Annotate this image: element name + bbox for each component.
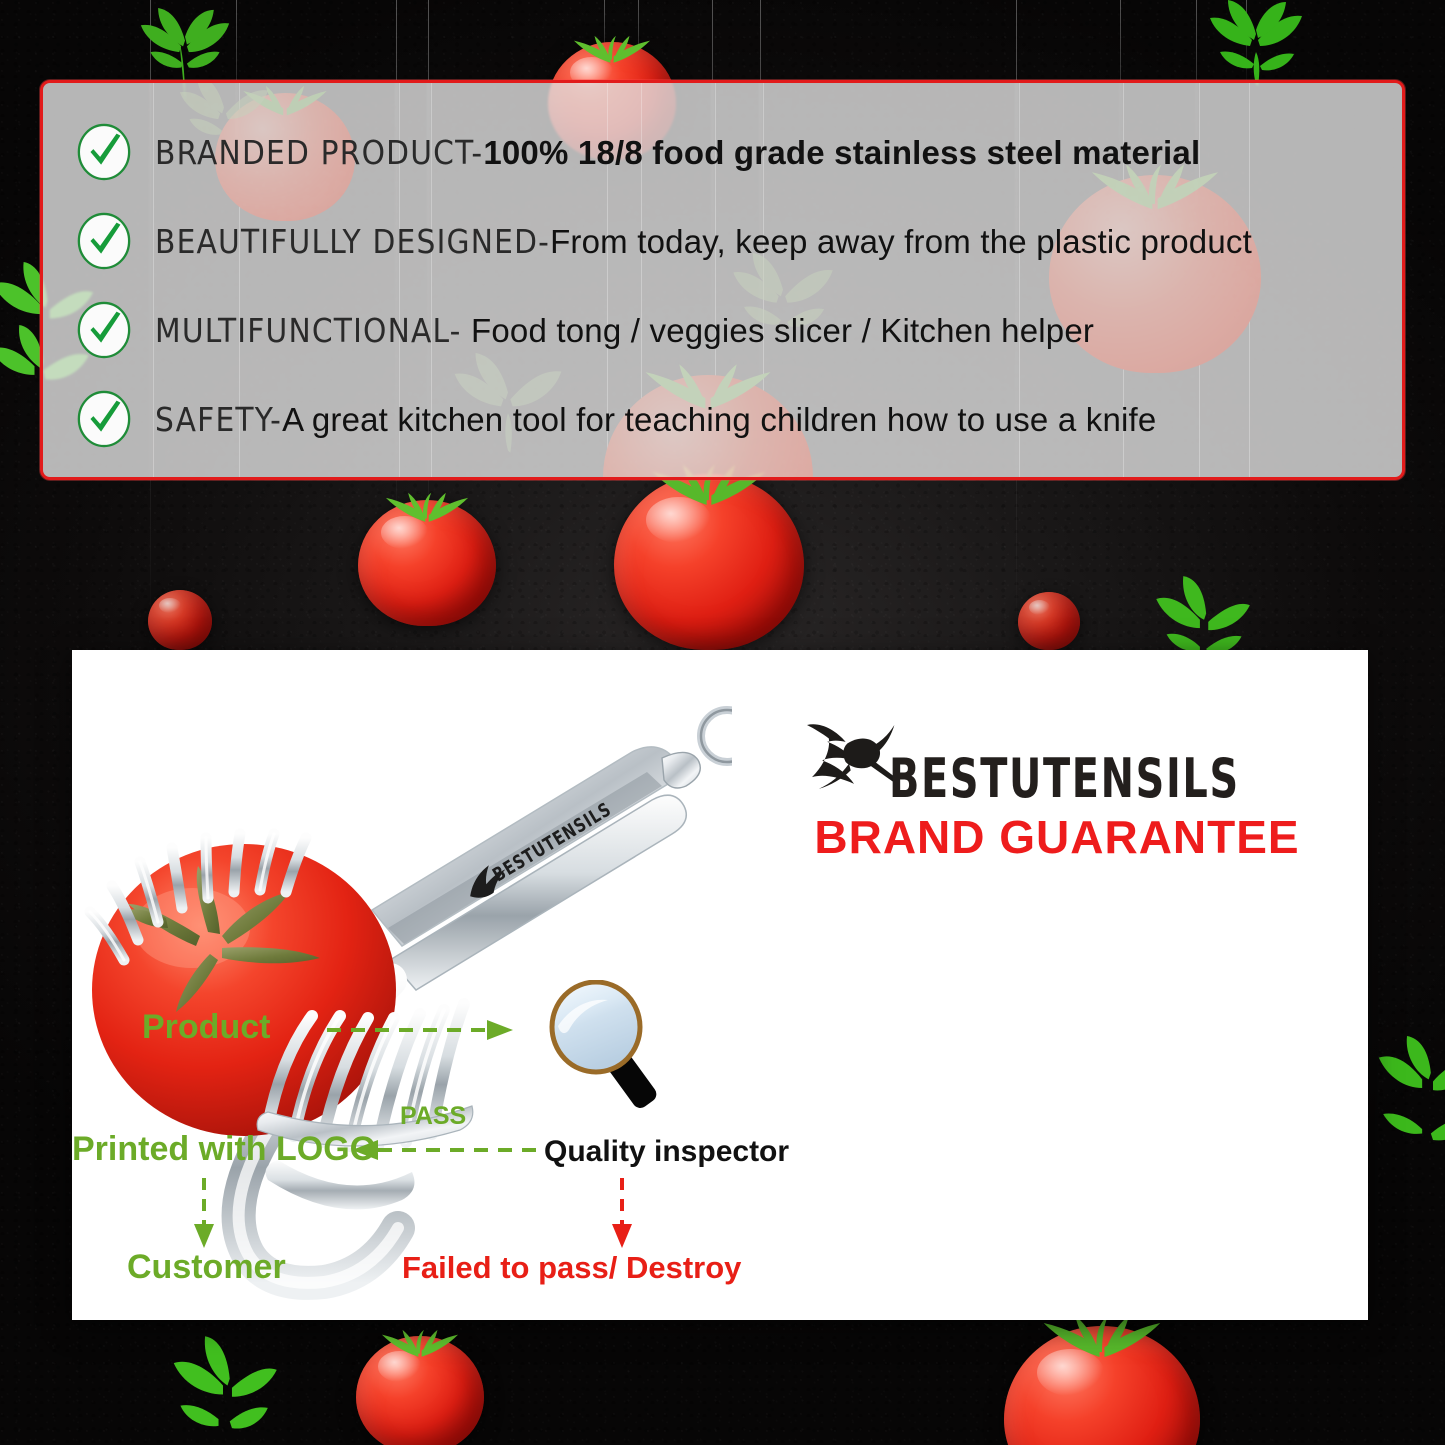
feature-text: SAFETY-A great kitchen tool for teaching…: [155, 400, 1156, 439]
brand-wordmark: BESTUTENSILS: [889, 755, 1240, 804]
check-circle-icon: [75, 299, 133, 361]
flow-node-customer: Customer: [127, 1248, 286, 1287]
tomato-icon: [1018, 592, 1080, 650]
flow-node-printed-with-logo: Printed with LOGO: [72, 1130, 376, 1169]
check-circle-icon: [75, 210, 133, 272]
feature-lead: BRANDED PRODUCT-: [155, 133, 483, 172]
arrow-inspector-to-logo: [350, 1138, 536, 1162]
feature-rest: From today, keep away from the plastic p…: [550, 223, 1252, 260]
feature-text: BEAUTIFULLY DESIGNED-From today, keep aw…: [155, 222, 1252, 261]
cilantro-leaf-icon: [148, 1334, 298, 1445]
tomato-icon: [614, 474, 804, 650]
cilantro-leaf-icon: [1378, 1036, 1445, 1166]
flow-node-failed: Failed to pass/ Destroy: [402, 1250, 741, 1286]
arrow-inspector-to-failed: [610, 1178, 634, 1250]
tomato-icon: [1004, 1326, 1200, 1445]
feature-text: BRANDED PRODUCT-100% 18/8 food grade sta…: [155, 133, 1200, 172]
feature-item: BEAUTIFULLY DESIGNED-From today, keep aw…: [75, 210, 1402, 272]
feature-item: BRANDED PRODUCT-100% 18/8 food grade sta…: [75, 121, 1402, 183]
feature-text: MULTIFUNCTIONAL- Food tong / veggies sli…: [155, 311, 1094, 350]
magnifying-glass-icon: [542, 980, 687, 1115]
brand-logo: BESTUTENSILS: [762, 698, 1352, 804]
feature-list: BRANDED PRODUCT-100% 18/8 food grade sta…: [43, 83, 1402, 450]
arrow-logo-to-customer: [192, 1178, 216, 1250]
check-circle-icon: [75, 121, 133, 183]
quality-flow-diagram: Product: [72, 980, 1368, 1310]
feature-item: MULTIFUNCTIONAL- Food tong / veggies sli…: [75, 299, 1402, 361]
arrow-product-to-inspector: [327, 1018, 527, 1042]
feature-item: SAFETY-A great kitchen tool for teaching…: [75, 388, 1402, 450]
check-circle-icon: [75, 388, 133, 450]
feature-lead: BEAUTIFULLY DESIGNED-: [155, 222, 550, 261]
tomato-icon: [358, 500, 496, 626]
flow-edge-label-pass: PASS: [400, 1102, 466, 1131]
feature-rest: Food tong / veggies slicer / Kitchen hel…: [462, 312, 1094, 349]
feature-rest: 100% 18/8 food grade stainless steel mat…: [483, 134, 1200, 171]
brand-block: BESTUTENSILS BRAND GUARANTEE: [762, 698, 1352, 864]
feature-highlights-panel: BRANDED PRODUCT-100% 18/8 food grade sta…: [40, 80, 1405, 480]
feature-rest: A great kitchen tool for teaching childr…: [282, 401, 1156, 438]
flow-node-product: Product: [142, 1008, 270, 1047]
brand-guarantee-title: BRAND GUARANTEE: [762, 810, 1352, 864]
tomato-icon: [148, 590, 212, 650]
flow-node-quality-inspector: Quality inspector: [544, 1135, 789, 1169]
tomato-icon: [356, 1336, 484, 1445]
feature-lead: SAFETY-: [155, 400, 282, 439]
hummingbird-icon: [797, 720, 901, 804]
product-marketing-image: BRANDED PRODUCT-100% 18/8 food grade sta…: [0, 0, 1445, 1445]
feature-lead: MULTIFUNCTIONAL-: [155, 311, 462, 350]
product-card: BESTUTENSILS: [72, 650, 1368, 1320]
